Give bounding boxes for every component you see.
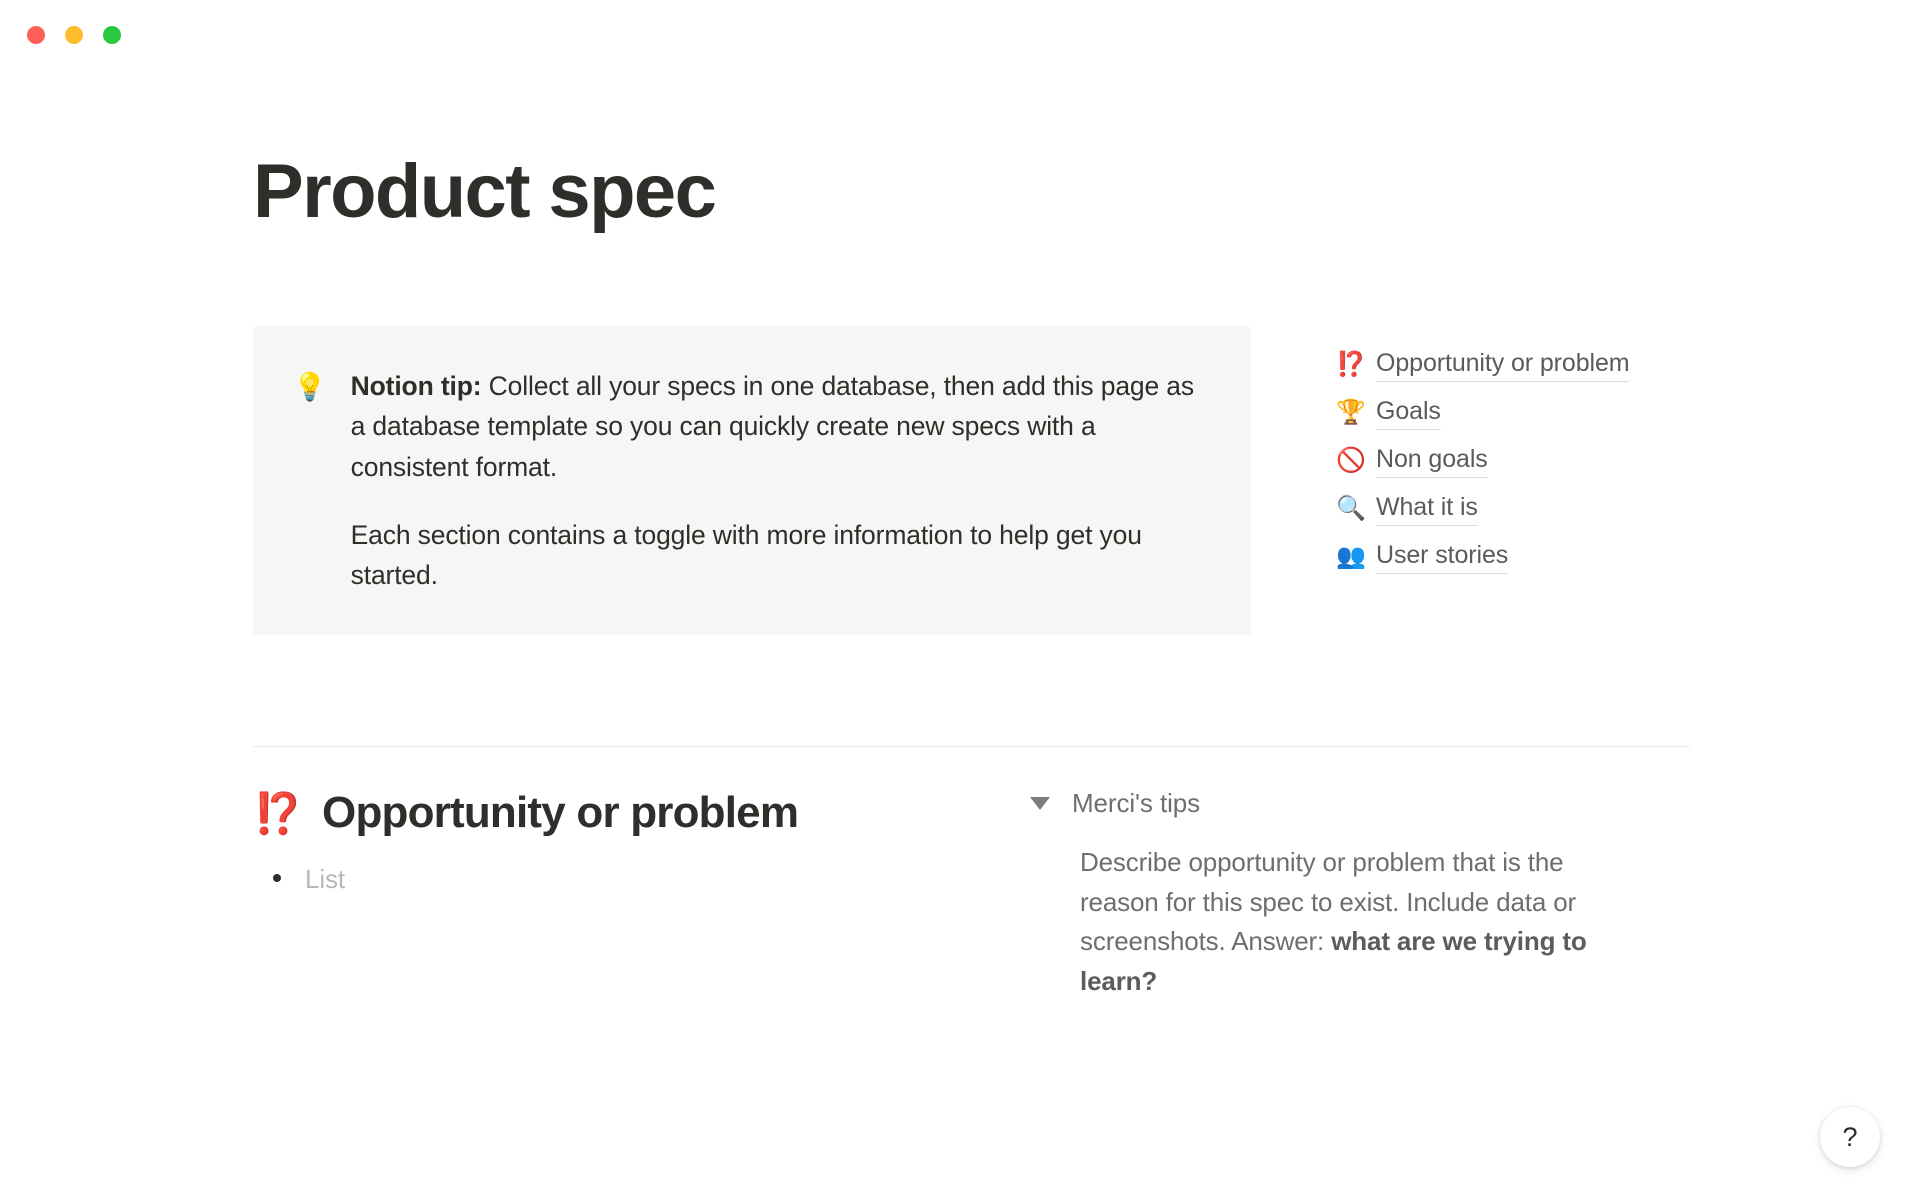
section-heading-label: Opportunity or problem	[322, 788, 798, 838]
toc-item-user-stories[interactable]: 👥 User stories	[1336, 533, 1508, 581]
page-title[interactable]: Product spec	[253, 152, 715, 232]
lightbulb-emoji: 💡	[293, 368, 327, 407]
toc-item-label: What it is	[1376, 492, 1478, 526]
busts-in-silhouette-emoji: 👥	[1336, 545, 1364, 569]
prohibited-emoji: 🚫	[1336, 449, 1364, 473]
magnifying-glass-emoji: 🔍	[1336, 497, 1364, 521]
merci-tips-body: Describe opportunity or problem that is …	[1080, 843, 1628, 1001]
trophy-emoji: 🏆	[1336, 401, 1364, 425]
toc-item-label: User stories	[1376, 540, 1508, 574]
callout-tip-label: Notion tip:	[351, 371, 482, 401]
callout-paragraph-2: Each section contains a toggle with more…	[351, 515, 1207, 596]
toc-item-goals[interactable]: 🏆 Goals	[1336, 389, 1441, 437]
close-window-button[interactable]	[27, 26, 45, 44]
bullet-dot-icon	[273, 874, 281, 882]
chevron-down-icon[interactable]	[1030, 797, 1050, 810]
opportunity-bullet-list: List	[253, 860, 993, 899]
callout-paragraph-1: Notion tip: Collect all your specs in on…	[351, 366, 1207, 487]
list-item[interactable]: List	[273, 860, 993, 899]
document-page: Product spec 💡 Notion tip: Collect all y…	[0, 72, 1920, 1200]
window-titlebar	[0, 0, 1920, 72]
traffic-light-controls	[27, 26, 121, 44]
exclamation-question-emoji: ⁉️	[1336, 353, 1364, 377]
toc-item-what-it-is[interactable]: 🔍 What it is	[1336, 485, 1478, 533]
toc-item-label: Opportunity or problem	[1376, 348, 1629, 382]
toggle-title: Merci's tips	[1072, 788, 1200, 819]
section-divider	[253, 746, 1690, 747]
minimize-window-button[interactable]	[65, 26, 83, 44]
section-heading[interactable]: ⁉️ Opportunity or problem	[253, 788, 993, 838]
toc-item-opportunity-or-problem[interactable]: ⁉️ Opportunity or problem	[1336, 341, 1629, 389]
list-item-placeholder: List	[305, 860, 345, 899]
callout-body: Notion tip: Collect all your specs in on…	[351, 366, 1207, 595]
notion-tip-callout[interactable]: 💡 Notion tip: Collect all your specs in …	[253, 326, 1251, 635]
toc-item-non-goals[interactable]: 🚫 Non goals	[1336, 437, 1488, 485]
merci-tips-toggle[interactable]: Merci's tips	[1028, 788, 1628, 819]
toc-item-label: Goals	[1376, 396, 1441, 430]
maximize-window-button[interactable]	[103, 26, 121, 44]
table-of-contents: ⁉️ Opportunity or problem 🏆 Goals 🚫 Non …	[1336, 341, 1696, 581]
section-left-column: ⁉️ Opportunity or problem List	[253, 788, 993, 899]
toc-item-label: Non goals	[1376, 444, 1488, 478]
exclamation-question-emoji: ⁉️	[253, 794, 302, 834]
help-button[interactable]: ?	[1820, 1107, 1880, 1167]
section-right-column: Merci's tips Describe opportunity or pro…	[1028, 788, 1628, 1001]
